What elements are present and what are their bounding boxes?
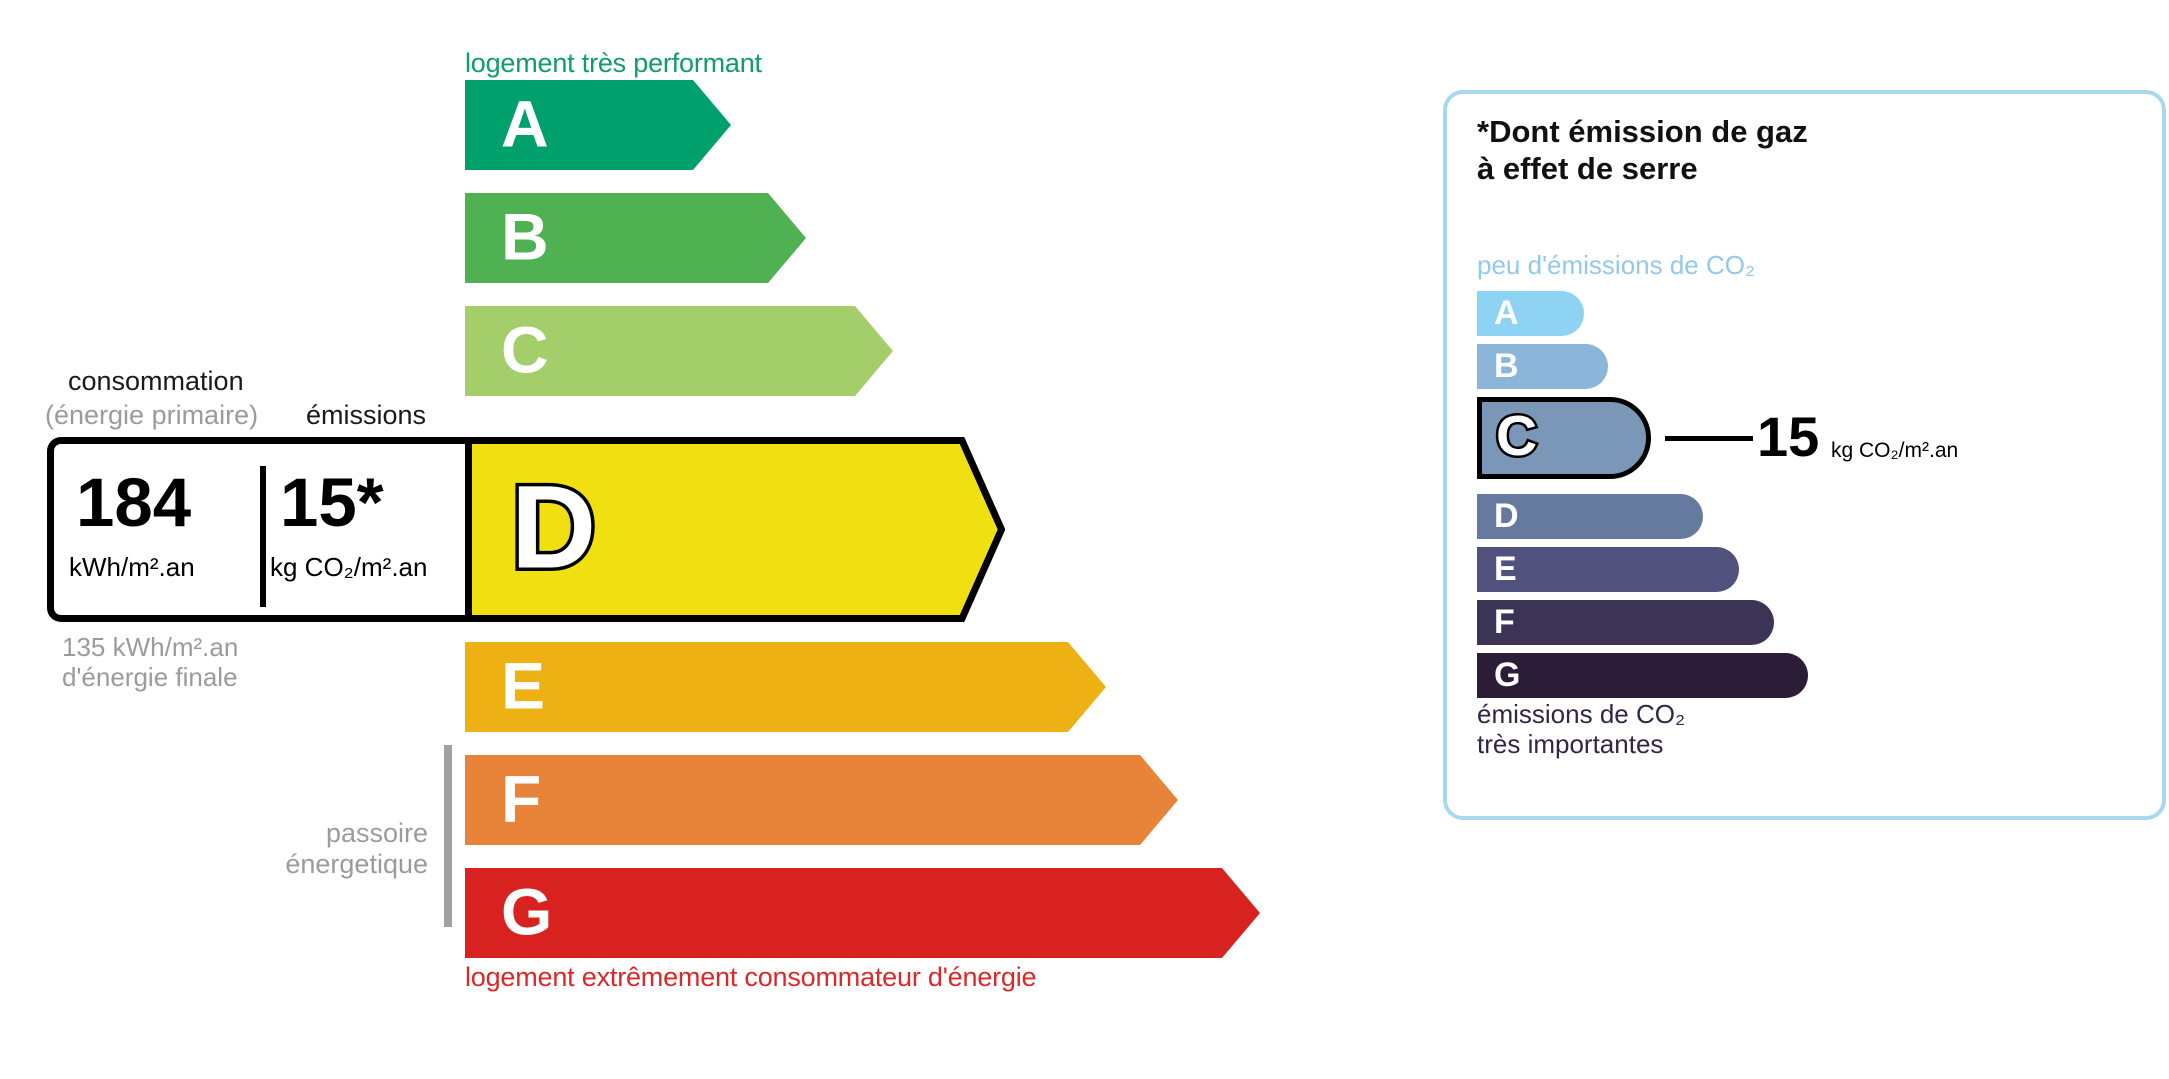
consumption-sublabel: (énergie primaire): [45, 400, 258, 431]
ghg-value: 15: [1757, 409, 1819, 465]
energy-band-shape-f: [465, 755, 1178, 845]
consumption-unit: kWh/m².an: [69, 552, 195, 583]
ghg-bottom-caption: émissions de CO₂ très importantes: [1477, 699, 1685, 759]
ghg-bottom-line-2: très importantes: [1477, 729, 1685, 759]
energy-scale-bottom-caption: logement extrêmement consommateur d'éner…: [465, 962, 1036, 993]
energy-performance-scale: logement très performant ABCDEFG consomm…: [0, 0, 1400, 1079]
passoire-label: passoire énergetique: [282, 818, 428, 881]
consumption-cell: 184 kWh/m².an: [54, 444, 260, 615]
ghg-emissions-panel: *Dont émission de gaz à effet de serre p…: [1443, 90, 2166, 820]
ghg-panel-title: *Dont émission de gaz à effet de serre: [1477, 114, 1808, 187]
ghg-band-b: B: [1477, 344, 1608, 389]
ghg-band-letter-f: F: [1494, 604, 1515, 638]
energy-band-f: F: [465, 755, 1178, 845]
ghg-band-e: E: [1477, 547, 1739, 592]
consumption-label: consommation: [68, 366, 244, 397]
energy-band-shape-e: [465, 642, 1106, 732]
emissions-unit: kg CO₂/m².an: [270, 552, 427, 583]
energy-scale-top-caption: logement très performant: [465, 48, 762, 79]
value-box: 184 kWh/m².an 15* kg CO₂/m².an: [47, 437, 465, 622]
dpe-diagram: logement très performant ABCDEFG consomm…: [0, 0, 2169, 1079]
energy-band-e: E: [465, 642, 1106, 732]
passoire-line-1: passoire: [282, 818, 428, 849]
energy-band-d: D: [465, 437, 1005, 622]
ghg-band-letter-a: A: [1494, 295, 1519, 329]
energy-band-shape-c: [465, 306, 893, 396]
ghg-title-line-2: à effet de serre: [1477, 151, 1808, 188]
ghg-band-f: F: [1477, 600, 1774, 645]
ghg-band-letter-b: B: [1494, 348, 1519, 382]
final-energy-value: 135 kWh/m².an: [62, 632, 238, 662]
energy-band-b: B: [465, 193, 806, 283]
energy-band-c: C: [465, 306, 893, 396]
ghg-band-letter-g: G: [1494, 657, 1520, 691]
ghg-leader-line: [1665, 436, 1753, 441]
ghg-band-d: D: [1477, 494, 1703, 539]
ghg-unit: kg CO₂/m².an: [1831, 439, 1958, 463]
emissions-value: 15*: [280, 468, 384, 537]
ghg-band-letter-e: E: [1494, 551, 1517, 585]
energy-band-shape-d: [465, 437, 1005, 622]
ghg-band-letter-d: D: [1494, 498, 1519, 532]
emissions-label: émissions: [306, 400, 426, 431]
passoire-marker-bar: [444, 745, 452, 927]
ghg-band-c: C: [1477, 397, 1651, 479]
energy-band-shape-g: [465, 868, 1260, 958]
ghg-bottom-line-1: émissions de CO₂: [1477, 699, 1685, 729]
energy-band-shape-a: [465, 80, 731, 170]
final-energy-note: 135 kWh/m².an d'énergie finale: [62, 632, 238, 692]
passoire-line-2: énergetique: [282, 849, 428, 880]
ghg-band-letter-c: C: [1496, 408, 1537, 465]
consumption-value: 184: [76, 468, 191, 537]
ghg-band-g: G: [1477, 653, 1808, 698]
ghg-title-line-1: *Dont émission de gaz: [1477, 114, 1808, 151]
energy-band-g: G: [465, 868, 1260, 958]
final-energy-text: d'énergie finale: [62, 662, 238, 692]
energy-band-shape-b: [465, 193, 806, 283]
ghg-top-caption: peu d'émissions de CO₂: [1477, 250, 1755, 281]
energy-band-a: A: [465, 80, 731, 170]
emissions-cell: 15* kg CO₂/m².an: [266, 444, 460, 615]
ghg-band-a: A: [1477, 291, 1584, 336]
